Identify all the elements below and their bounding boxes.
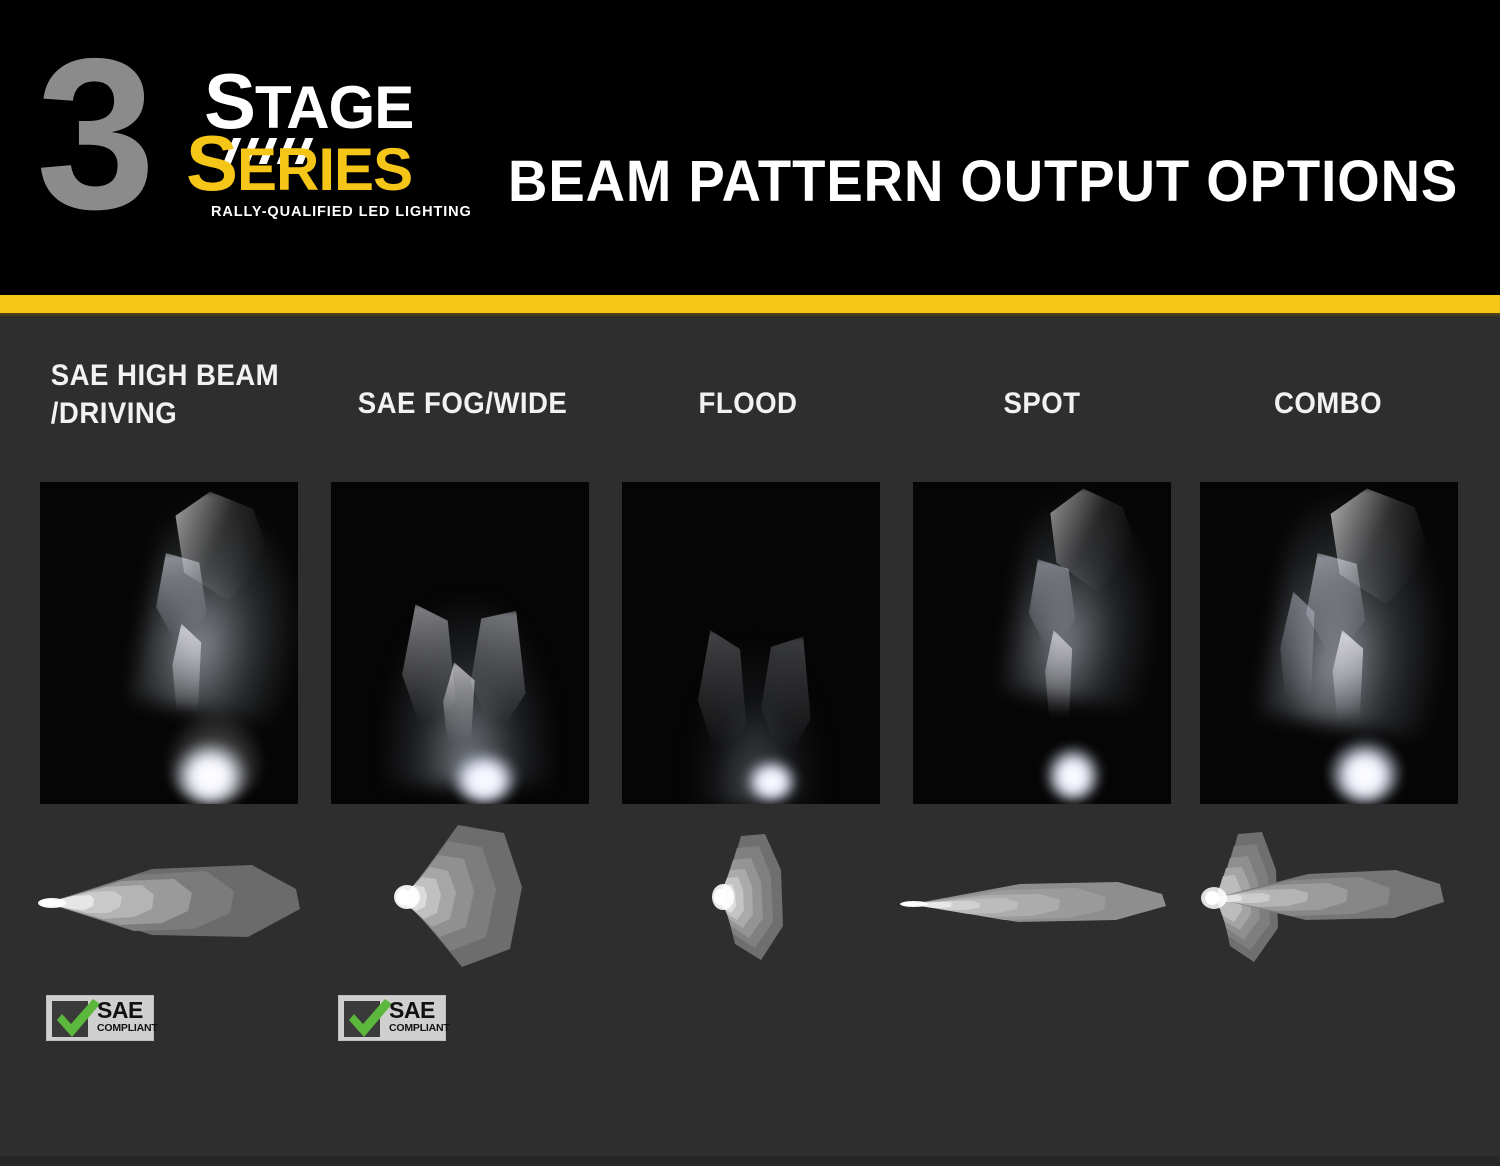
beam-photo-flood xyxy=(622,482,880,804)
logo-tagline: RALLY-QUALIFIED LED LIGHTING xyxy=(211,204,472,220)
badge-line1: SAE xyxy=(389,999,445,1022)
sae-compliant-badge-sae-high-beam-driving: SAE COMPLIANT xyxy=(46,995,154,1041)
beam-photo-sae-fog-wide xyxy=(331,482,589,804)
header-bar: 3 STAGE SERIES RALLY-QUALIFIED LED LIGHT… xyxy=(0,0,1500,295)
beam-diagram-sae-high-beam-driving xyxy=(34,837,324,967)
badge-text: SAE COMPLIANT xyxy=(389,999,445,1034)
beam-diagram-combo xyxy=(1190,822,1470,972)
beam-photo-sae-high-beam-driving xyxy=(40,482,298,804)
beam-diagram-sae-fog-wide xyxy=(380,817,550,977)
beam-photo-combo xyxy=(1200,482,1458,804)
beam-diagram-flood xyxy=(705,822,815,972)
stage-series-logo: 3 STAGE SERIES RALLY-QUALIFIED LED LIGHT… xyxy=(36,46,456,226)
bottom-edge-band xyxy=(0,1156,1500,1166)
column-label-sae-fog-wide: SAE FOG/WIDE xyxy=(341,385,585,423)
page-title: BEAM PATTERN OUTPUT OPTIONS xyxy=(508,148,1458,215)
beam-diagram-spot xyxy=(900,852,1190,952)
sae-compliant-badge-sae-fog-wide: SAE COMPLIANT xyxy=(338,995,446,1041)
badge-line2: COMPLIANT xyxy=(389,1022,445,1034)
badge-line2: COMPLIANT xyxy=(97,1022,153,1034)
content-area: SAE HIGH BEAM /DRIVING SAE FOG/WIDE FLOO… xyxy=(0,317,1500,1166)
yellow-divider xyxy=(0,295,1500,313)
column-label-spot: SPOT xyxy=(922,385,1161,423)
beam-pattern-infographic: 3 STAGE SERIES RALLY-QUALIFIED LED LIGHT… xyxy=(0,0,1500,1166)
badge-line1: SAE xyxy=(97,999,153,1022)
beam-photo-spot xyxy=(913,482,1171,804)
column-label-combo: COMBO xyxy=(1208,385,1447,423)
logo-word-series: SERIES xyxy=(186,134,412,199)
badge-text: SAE COMPLIANT xyxy=(97,999,153,1034)
column-label-flood: FLOOD xyxy=(628,385,867,423)
column-label-sae-high-beam-driving: SAE HIGH BEAM /DRIVING xyxy=(51,357,299,433)
